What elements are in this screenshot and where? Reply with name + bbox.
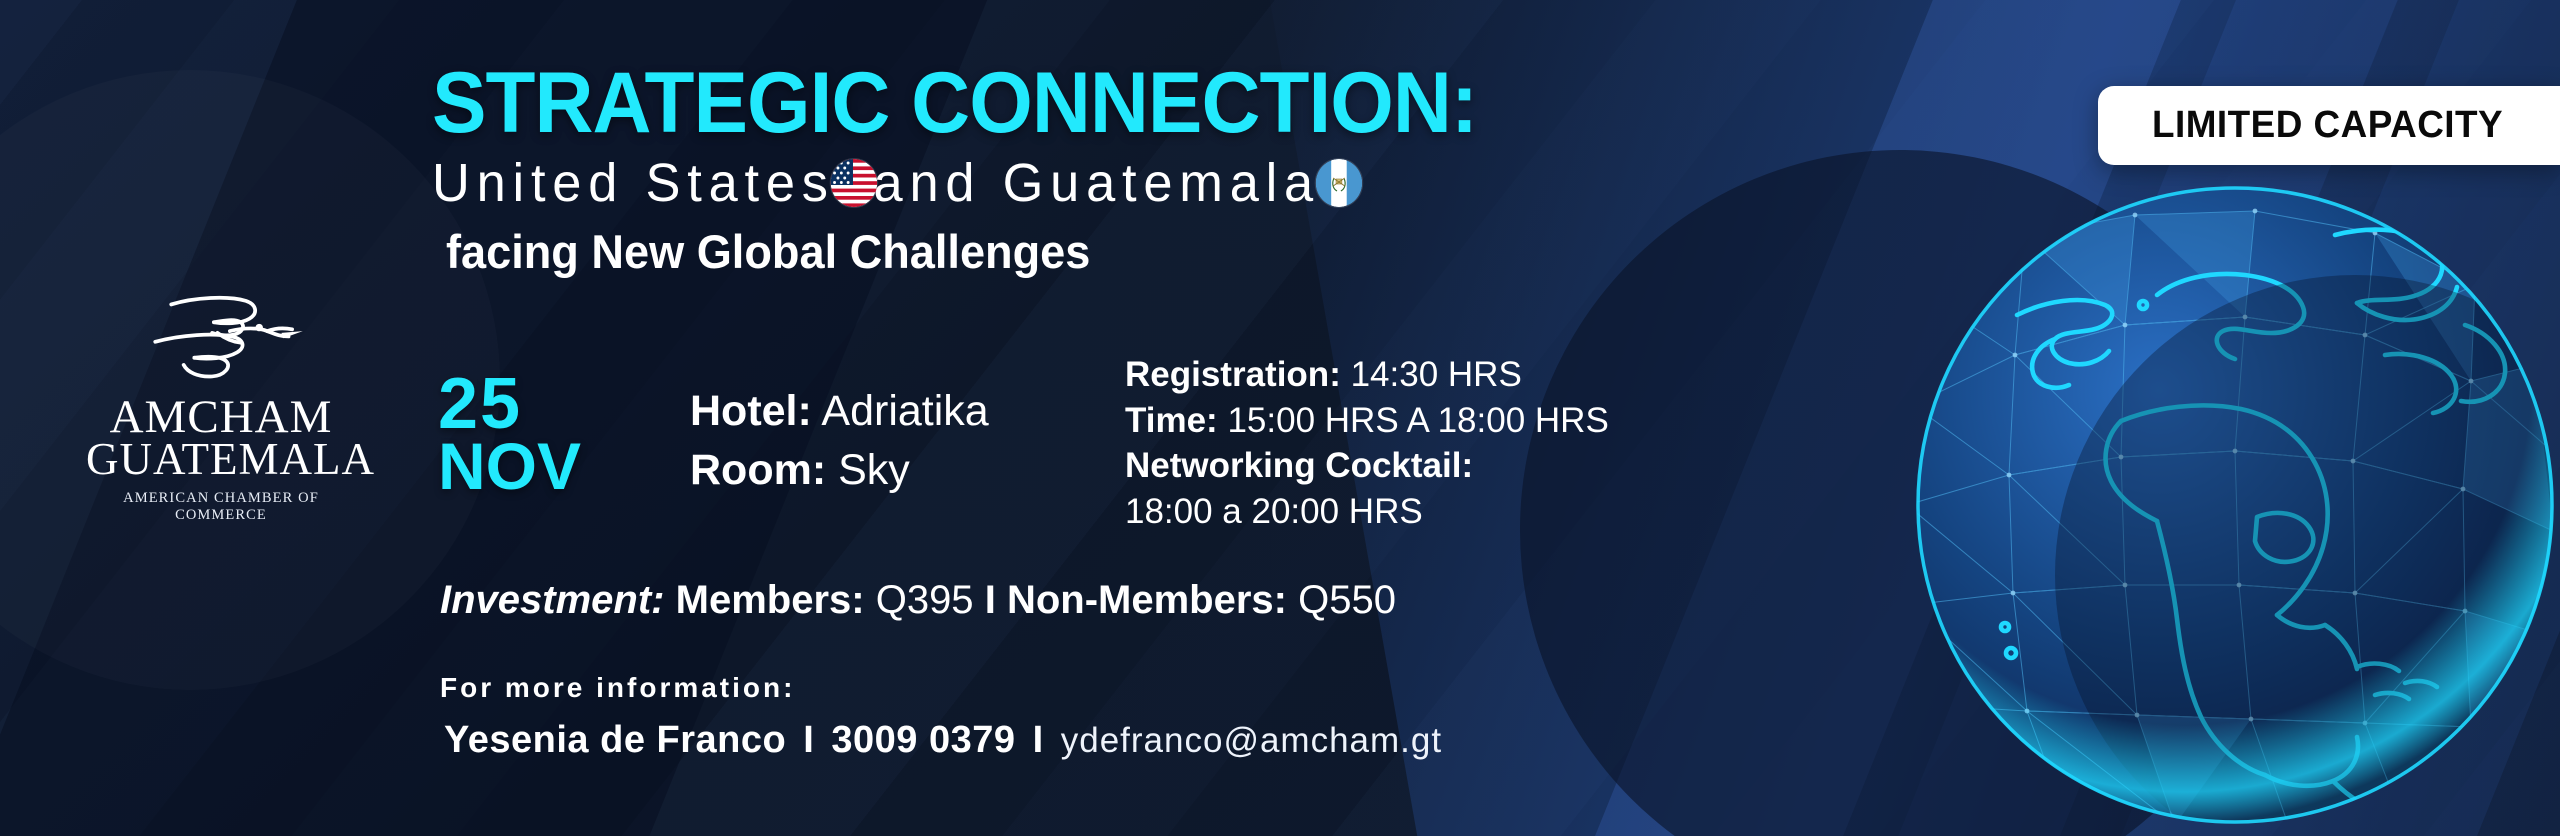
limited-capacity-badge: LIMITED CAPACITY	[2098, 86, 2560, 165]
investment-members-value: Q395	[876, 578, 974, 622]
schedule-cocktail-value-row: 18:00 a 20:00 HRS	[1125, 489, 1609, 535]
contact-details: Yesenia de Franco I 3009 0379 I ydefranc…	[444, 719, 1442, 762]
limited-capacity-label: LIMITED CAPACITY	[2152, 104, 2503, 147]
headline-secondary: United States	[432, 155, 1499, 212]
us-flag-icon	[831, 159, 878, 207]
investment-line: Investment: Members: Q395 I Non-Members:…	[440, 578, 1396, 623]
schedule-registration-row: Registration: 14:30 HRS	[1125, 352, 1609, 398]
investment-separator: I	[985, 578, 996, 622]
schedule-time-row: Time: 15:00 HRS A 18:00 HRS	[1125, 398, 1609, 444]
amcham-bird-icon	[131, 292, 311, 388]
contact-separator-2: I	[1027, 719, 1050, 761]
headline-country-us: United States	[432, 155, 835, 212]
schedule-cocktail-value: 18:00 a 20:00 HRS	[1125, 492, 1423, 531]
schedule-time-value: 15:00 HRS A 18:00 HRS	[1227, 401, 1608, 440]
logo-name-amcham: AMCHAM	[86, 396, 356, 439]
logo-name-guatemala: GUATEMALA	[86, 439, 356, 480]
event-banner: AMCHAM GUATEMALA AMERICAN CHAMBER OF COM…	[0, 0, 2560, 836]
schedule-time-label: Time:	[1125, 401, 1218, 440]
schedule-cocktail-label: Networking Cocktail:	[1125, 446, 1473, 485]
contact-heading: For more information:	[440, 672, 795, 704]
headline-country-gt: and Guatemala	[874, 155, 1320, 212]
schedule-registration-value: 14:30 HRS	[1351, 355, 1522, 394]
investment-nonmembers-label: Non-Members:	[1007, 578, 1287, 622]
event-date-day: 25	[438, 372, 581, 437]
contact-email: ydefranco@amcham.gt	[1061, 721, 1442, 760]
investment-members-label: Members:	[676, 578, 865, 622]
investment-label: Investment:	[440, 578, 665, 622]
venue-room-label: Room:	[690, 446, 826, 494]
venue-block: Hotel: Adriatika Room: Sky	[690, 382, 989, 501]
headline-block: STRATEGIC CONNECTION: United States	[432, 60, 1532, 279]
amcham-logo: AMCHAM GUATEMALA AMERICAN CHAMBER OF COM…	[86, 292, 356, 524]
venue-hotel-row: Hotel: Adriatika	[690, 382, 989, 441]
venue-room-row: Room: Sky	[690, 441, 989, 500]
event-date: 25 NOV	[438, 372, 581, 496]
venue-hotel-label: Hotel:	[690, 387, 812, 435]
headline-tertiary: facing New Global Challenges	[446, 224, 1489, 279]
contact-name: Yesenia de Franco	[444, 719, 786, 761]
wireframe-globe-icon	[1905, 175, 2560, 835]
schedule-block: Registration: 14:30 HRS Time: 15:00 HRS …	[1125, 352, 1609, 534]
venue-room-value: Sky	[838, 446, 910, 494]
contact-phone: 3009 0379	[831, 719, 1015, 761]
guatemala-flag-icon	[1316, 159, 1363, 207]
venue-hotel-value: Adriatika	[821, 387, 988, 435]
schedule-registration-label: Registration:	[1125, 355, 1341, 394]
schedule-cocktail-row: Networking Cocktail:	[1125, 443, 1609, 489]
investment-nonmembers-value: Q550	[1298, 578, 1396, 622]
event-date-month: NOV	[438, 437, 581, 496]
logo-tagline: AMERICAN CHAMBER OF COMMERCE	[86, 490, 356, 524]
headline-primary: STRATEGIC CONNECTION:	[432, 60, 1477, 146]
contact-separator-1: I	[797, 719, 820, 761]
